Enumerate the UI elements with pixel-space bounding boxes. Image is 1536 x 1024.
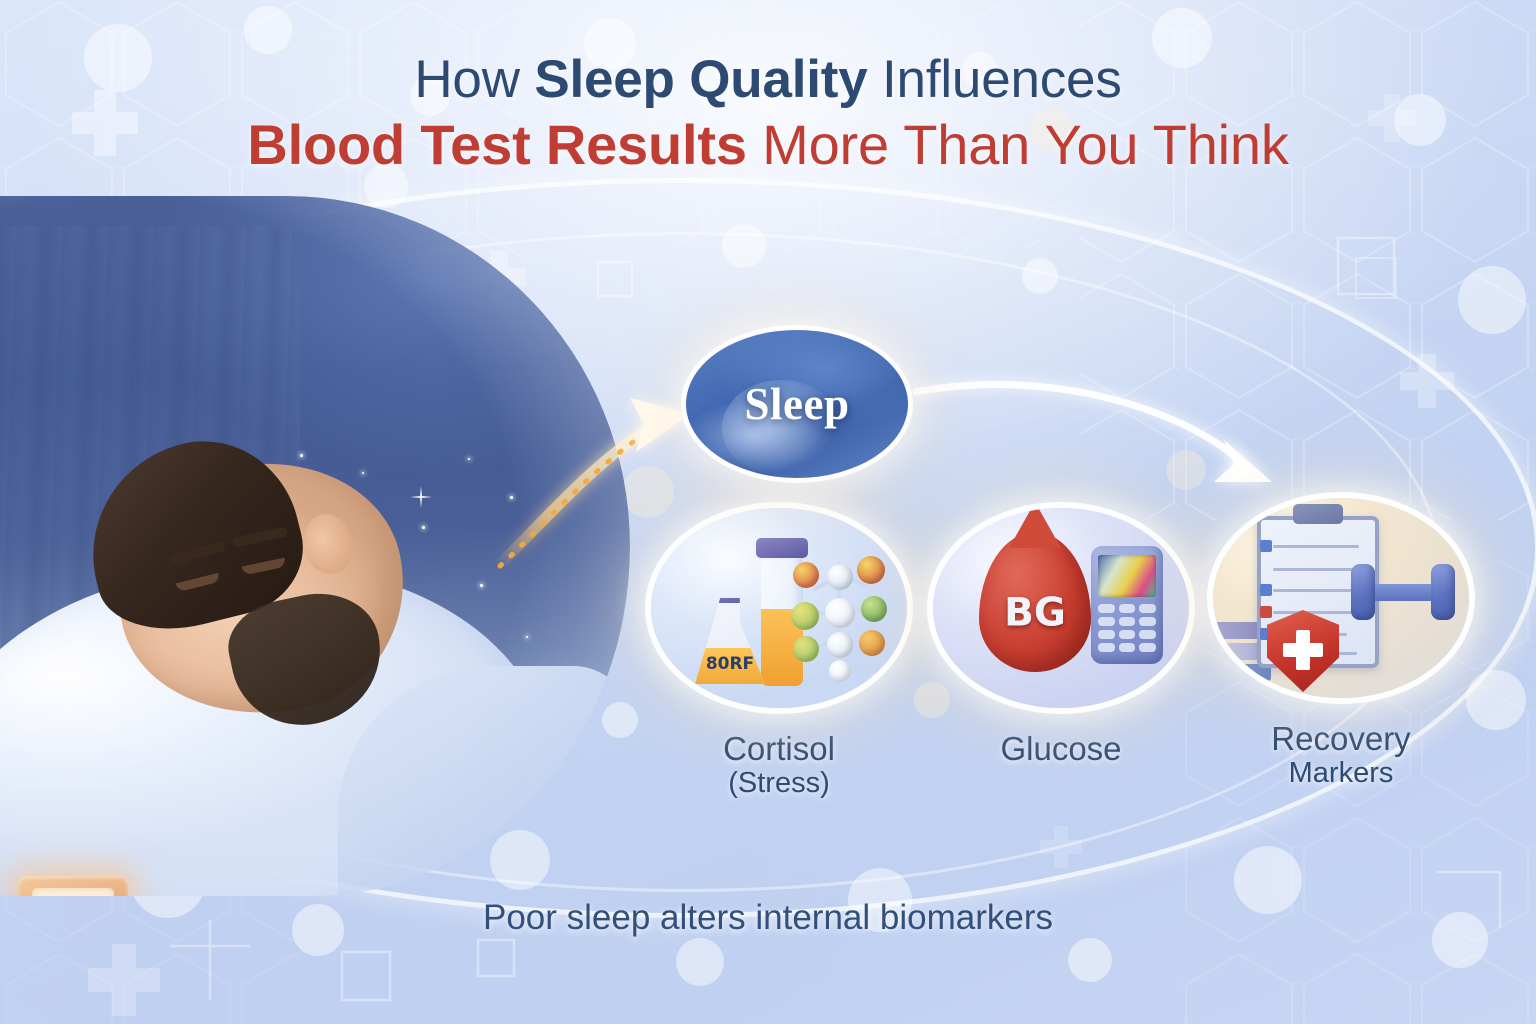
flask-code-label: 80RF	[706, 654, 754, 674]
sleep-node[interactable]: Sleep	[686, 330, 908, 478]
marker-glucose[interactable]: BG Glucose	[933, 508, 1189, 767]
marker-cortisol[interactable]: 80RF	[651, 508, 907, 800]
title-seg: Influences	[868, 50, 1122, 109]
title-line-1: How Sleep Quality Influences	[0, 52, 1536, 109]
blood-drop-icon: BG	[979, 532, 1091, 672]
dumbbell-icon	[1351, 554, 1455, 630]
arrow-sleep-to-recovery	[916, 385, 1272, 482]
title-seg: Sleep Quality	[534, 50, 867, 109]
clipboard-clip	[1293, 504, 1343, 524]
infographic-canvas: 3:15 Sleep	[0, 0, 1536, 1024]
glucose-caption: Glucose	[933, 730, 1189, 767]
flask-cap	[709, 585, 751, 603]
glucose-label: Glucose	[1000, 730, 1121, 767]
glucose-bubble[interactable]: BG	[933, 508, 1189, 708]
cortisol-caption: Cortisol (Stress)	[651, 730, 907, 800]
lab-flask-icon: 80RF	[695, 598, 765, 684]
title-seg: How	[414, 50, 534, 109]
sleeping-man-photo: 3:15	[0, 196, 630, 896]
cortisol-sub-label: (Stress)	[651, 767, 907, 800]
recovery-art	[1213, 498, 1469, 698]
glucometer-screen	[1098, 555, 1156, 597]
glucometer-icon	[1091, 546, 1163, 664]
molecule-icon	[793, 550, 893, 678]
title-seg: More Than You Think	[747, 113, 1289, 176]
title-block: How Sleep Quality Influences Blood Test …	[0, 52, 1536, 175]
clock-time-display: 3:15	[45, 896, 102, 897]
glucometer-keypad	[1098, 604, 1156, 652]
recovery-sub-label: Markers	[1213, 757, 1469, 790]
alarm-clock: 3:15	[18, 876, 128, 896]
clock-face: 3:15	[32, 888, 114, 896]
health-shield-icon	[1267, 610, 1339, 692]
sleep-node-label: Sleep	[744, 378, 849, 430]
marker-recovery[interactable]: Recovery Markers	[1213, 498, 1469, 790]
recovery-label: Recovery	[1271, 720, 1410, 757]
glucose-art: BG	[933, 508, 1189, 708]
cortisol-art: 80RF	[651, 508, 907, 708]
recovery-bubble[interactable]	[1213, 498, 1469, 698]
cortisol-label: Cortisol	[723, 730, 835, 767]
recovery-caption: Recovery Markers	[1213, 720, 1469, 790]
title-line-2: Blood Test Results More Than You Think	[0, 115, 1536, 175]
title-seg: Blood Test Results	[247, 113, 746, 176]
star-sparkle-icon	[410, 486, 432, 508]
cortisol-bubble[interactable]: 80RF	[651, 508, 907, 708]
foot-caption: Poor sleep alters internal biomarkers	[0, 898, 1536, 938]
blood-drop-label: BG	[979, 591, 1091, 636]
